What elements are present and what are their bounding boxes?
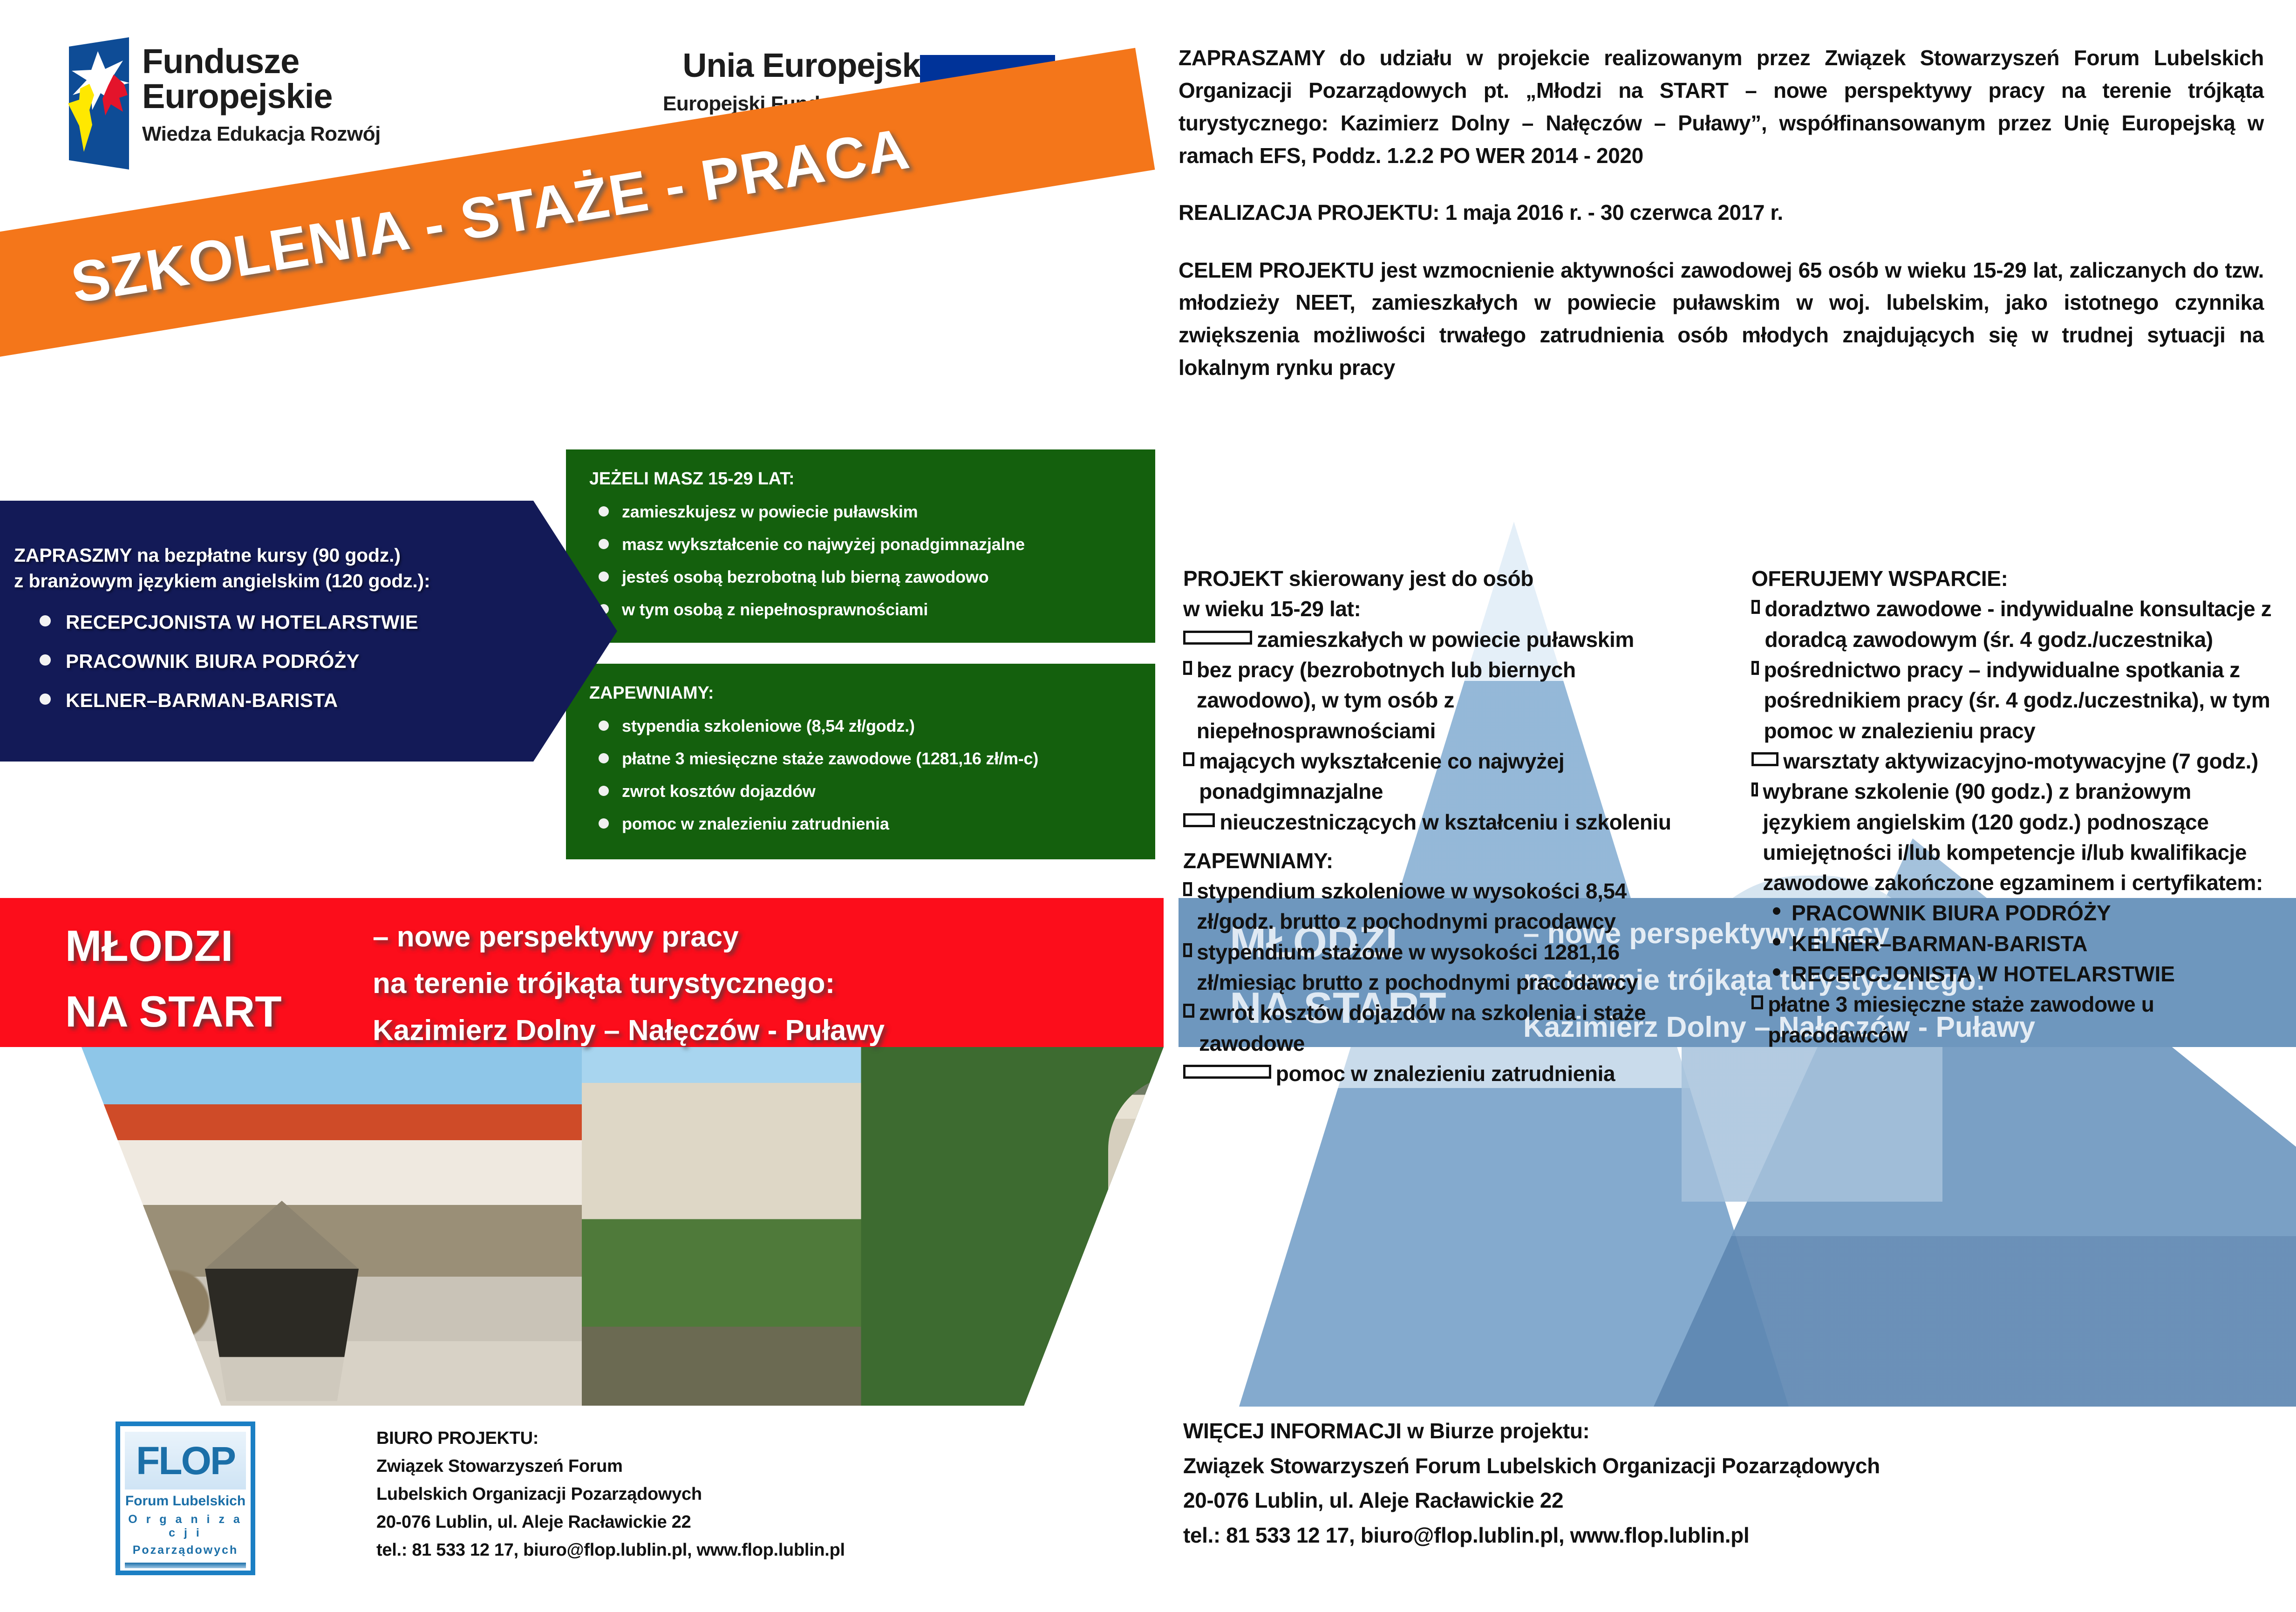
footer-left-l5[interactable]: tel.: 81 533 12 17, biuro@flop.lublin.pl… <box>376 1536 845 1564</box>
colA-heading-line1: PROJEKT skierowany jest do osób <box>1183 564 1691 594</box>
checkbox-icon <box>1751 661 1759 675</box>
photo-kazimierz-dolny <box>0 1047 582 1406</box>
checkbox-icon <box>1751 752 1778 766</box>
list-item: bez pracy (bezrobotnych lub biernych zaw… <box>1183 655 1691 746</box>
photo-trapezoid-clip <box>0 1047 1164 1406</box>
list-item: RECEPCJONISTA W HOTELARSTWIE <box>40 611 536 633</box>
intro-paragraph: ZAPRASZAMY do udziału w projekcie realiz… <box>1179 42 2264 172</box>
list-item: PRACOWNIK BIURA PODRÓŻY <box>1773 898 2273 928</box>
red-sub-line3: Kazimierz Dolny – Nałęczów - Puławy <box>373 1007 885 1054</box>
colA-item-2: mających wykształcenie co najwyżej ponad… <box>1199 746 1691 807</box>
list-item: PRACOWNIK BIURA PODRÓŻY <box>40 650 536 673</box>
list-item: doradztwo zawodowe - indywidualne konsul… <box>1751 594 2273 655</box>
bullet-dot-icon <box>40 654 51 666</box>
green2-item-0: stypendia szkoleniowe (8,54 zł/godz.) <box>622 716 915 736</box>
colB-last-item: płatne 3 miesięczne staże zawodowe u pra… <box>1768 989 2273 1050</box>
flop-sub2: O r g a n i z a c j i <box>125 1513 246 1540</box>
list-item: zwrot kosztów dojazdów na szkolenia i st… <box>1183 998 1691 1059</box>
checkbox-icon <box>1183 631 1252 645</box>
flop-logo: FLOP Forum Lubelskich O r g a n i z a c … <box>116 1422 255 1575</box>
footer-left-l2: Związek Stowarzyszeń Forum <box>376 1452 845 1480</box>
colB-item-3: wybrane szkolenie (90 godz.) z branżowym… <box>1763 776 2273 898</box>
list-item: stypendia szkoleniowe (8,54 zł/godz.) <box>599 716 1155 736</box>
checkbox-icon <box>1183 943 1192 957</box>
flop-sub3: Pozarządowych <box>125 1544 246 1557</box>
list-item: w tym osobą z niepełnosprawnościami <box>599 600 1155 619</box>
realization-paragraph: REALIZACJA PROJEKTU: 1 maja 2016 r. - 30… <box>1179 197 2264 229</box>
list-item: zamieszkałych w powiecie puławskim <box>1183 625 1691 655</box>
bullet-dot-icon <box>1773 938 1780 945</box>
wooden-well-shape <box>205 1201 359 1401</box>
flop-wordmark: FLOP <box>125 1432 246 1490</box>
fe-wordmark: Fundusze Europejskie Wiedza Edukacja Roz… <box>142 44 459 146</box>
rotunda-shape <box>1108 1075 1164 1294</box>
green2-item-2: zwrot kosztów dojazdów <box>622 782 816 801</box>
green-box-guarantees: ZAPEWNIAMY: stypendia szkoleniowe (8,54 … <box>566 664 1155 859</box>
right-text-column: ZAPRASZAMY do udziału w projekcie realiz… <box>1179 42 2264 384</box>
photo-montage <box>0 1047 1164 1406</box>
list-item: mających wykształcenie co najwyżej ponad… <box>1183 746 1691 807</box>
red-banner-title: MŁODZI NA START <box>65 913 282 1044</box>
green1-item-2: jesteś osobą bezrobotną lub bierną zawod… <box>622 567 989 587</box>
colA-item-3: nieuczestniczących w kształceniu i szkol… <box>1220 807 1691 837</box>
colA-heading-line2: w wieku 15-29 lat: <box>1183 594 1691 624</box>
colA-item-1: bez pracy (bezrobotnych lub biernych zaw… <box>1197 655 1691 746</box>
fe-line3: Wiedza Edukacja Rozwój <box>142 122 459 146</box>
navy-heading-line1: ZAPRASZMY na bezpłatne kursy (90 godz.) <box>14 543 536 568</box>
colB-item-0: doradztwo zawodowe - indywidualne konsul… <box>1765 594 2273 655</box>
green1-item-1: masz wykształcenie co najwyżej ponadgimn… <box>622 535 1025 554</box>
checkbox-icon <box>1183 813 1215 827</box>
footer-right-l1: WIĘCEJ INFORMACJI w Biurze projektu: <box>1183 1414 1880 1449</box>
colA-item2-3: pomoc w znalezieniu zatrudnienia <box>1276 1059 1691 1089</box>
fe-flag-icon <box>65 34 133 173</box>
bullet-dot-icon <box>599 818 609 829</box>
bullet-dot-icon <box>1773 968 1780 976</box>
navy-item-1: PRACOWNIK BIURA PODRÓŻY <box>66 650 360 673</box>
navy-heading-line2: z branżowym językiem angielskim (120 god… <box>14 568 536 594</box>
checkbox-icon <box>1751 600 1760 614</box>
list-item: RECEPCJONISTA W HOTELARSTWIE <box>1773 959 2273 989</box>
red-banner-subtitle: – nowe perspektywy pracy na terenie trój… <box>373 914 885 1054</box>
footer-left-l4: 20-076 Lublin, ul. Aleje Racławickie 22 <box>376 1508 845 1536</box>
green2-item-3: pomoc w znalezieniu zatrudnienia <box>622 814 889 834</box>
colA-item-0: zamieszkałych w powiecie puławskim <box>1257 625 1691 655</box>
green1-item-3: w tym osobą z niepełnosprawnościami <box>622 600 928 619</box>
column-target-group: PROJEKT skierowany jest do osób w wieku … <box>1183 564 1691 1089</box>
checkbox-icon <box>1183 661 1192 675</box>
red-sub-line2: na terenie trójkąta turystycznego: <box>373 960 885 1007</box>
list-item: wybrane szkolenie (90 godz.) z branżowym… <box>1751 776 2273 898</box>
list-item: pośrednictwo pracy – indywidualne spotka… <box>1751 655 2273 746</box>
colA-item2-1: stypendium stażowe w wysokości 1281,16 z… <box>1197 937 1691 998</box>
red-title-line1: MŁODZI <box>65 913 282 979</box>
colB-course-2: RECEPCJONISTA W HOTELARSTWIE <box>1792 959 2175 989</box>
checkbox-icon <box>1183 1004 1194 1018</box>
colA-heading2: ZAPEWNIAMY: <box>1183 846 1691 876</box>
list-item: KELNER–BARMAN-BARISTA <box>1773 929 2273 959</box>
fundusze-europejskie-logo: Fundusze Europejskie Wiedza Edukacja Roz… <box>65 34 191 173</box>
column-support-offered: OFERUJEMY WSPARCIE: doradztwo zawodowe -… <box>1751 564 2273 1050</box>
list-item: płatne 3 miesięczne staże zawodowe u pra… <box>1751 989 2273 1050</box>
green1-item-0: zamieszkujesz w powiecie puławskim <box>622 502 918 522</box>
colA-item2-2: zwrot kosztów dojazdów na szkolenia i st… <box>1199 998 1691 1059</box>
navy-arrow-tip <box>533 501 617 762</box>
flop-sub1: Forum Lubelskich <box>125 1493 246 1509</box>
list-item: pomoc w znalezieniu zatrudnienia <box>1183 1059 1691 1089</box>
colB-heading: OFERUJEMY WSPARCIE: <box>1751 564 2273 594</box>
checkbox-icon <box>1183 1065 1271 1079</box>
bullet-dot-icon <box>1773 907 1780 915</box>
bullet-dot-icon <box>40 615 51 626</box>
list-item: warsztaty aktywizacyjno-motywacyjne (7 g… <box>1751 746 2273 776</box>
colB-course-1: KELNER–BARMAN-BARISTA <box>1792 929 2087 959</box>
goal-paragraph: CELEM PROJEKTU jest wzmocnienie aktywnoś… <box>1179 254 2264 385</box>
green1-heading: JEŻELI MASZ 15-29 LAT: <box>589 469 1155 489</box>
colA-item2-0: stypendium szkoleniowe w wysokości 8,54 … <box>1197 876 1691 937</box>
footer-left-l3: Lubelskich Organizacji Pozarządowych <box>376 1480 845 1508</box>
green2-heading: ZAPEWNIAMY: <box>589 683 1155 703</box>
flyer-page: Fundusze Europejskie Wiedza Edukacja Roz… <box>0 0 2296 1612</box>
photo-pulawy-rotunda <box>582 1047 1164 1406</box>
checkbox-icon <box>1751 995 1763 1009</box>
list-item: masz wykształcenie co najwyżej ponadgimn… <box>599 535 1155 554</box>
list-item: pomoc w znalezieniu zatrudnienia <box>599 814 1155 834</box>
footer-right-contact: WIĘCEJ INFORMACJI w Biurze projektu: Zwi… <box>1183 1414 1880 1552</box>
list-item: zwrot kosztów dojazdów <box>599 782 1155 801</box>
green-box-eligibility: JEŻELI MASZ 15-29 LAT: zamieszkujesz w p… <box>566 449 1155 643</box>
flop-mark-text: FLOP <box>136 1438 235 1483</box>
footer-right-l3: 20-076 Lublin, ul. Aleje Racławickie 22 <box>1183 1483 1880 1518</box>
bullet-dot-icon <box>599 786 609 796</box>
footer-right-l2: Związek Stowarzyszeń Forum Lubelskich Or… <box>1183 1449 1880 1483</box>
footer-right-l4[interactable]: tel.: 81 533 12 17, biuro@flop.lublin.pl… <box>1183 1518 1880 1553</box>
navy-item-0: RECEPCJONISTA W HOTELARSTWIE <box>66 611 418 633</box>
fe-line1: Fundusze <box>142 44 459 79</box>
green2-item-1: płatne 3 miesięczne staże zawodowe (1281… <box>622 749 1038 769</box>
list-item: jesteś osobą bezrobotną lub bierną zawod… <box>599 567 1155 587</box>
list-item: stypendium szkoleniowe w wysokości 8,54 … <box>1183 876 1691 937</box>
list-item: KELNER–BARMAN-BARISTA <box>40 689 536 712</box>
footer-left-l1: BIURO PROJEKTU: <box>376 1424 845 1452</box>
list-item: zamieszkujesz w powiecie puławskim <box>599 502 1155 522</box>
fe-line2: Europejskie <box>142 79 459 114</box>
flop-divider <box>125 1563 246 1568</box>
red-title-line2: NA START <box>65 979 282 1044</box>
colB-item-2: warsztaty aktywizacyjno-motywacyjne (7 g… <box>1783 746 2273 776</box>
list-item: płatne 3 miesięczne staże zawodowe (1281… <box>599 749 1155 769</box>
footer-left-contact: BIURO PROJEKTU: Związek Stowarzyszeń For… <box>376 1424 845 1564</box>
checkbox-icon <box>1183 882 1192 896</box>
navy-box-content: ZAPRASZMY na bezpłatne kursy (90 godz.) … <box>14 543 536 712</box>
list-item: nieuczestniczących w kształceniu i szkol… <box>1183 807 1691 837</box>
red-sub-line1: – nowe perspektywy pracy <box>373 914 885 960</box>
checkbox-icon <box>1183 752 1194 766</box>
checkbox-icon <box>1751 782 1758 796</box>
bullet-dot-icon <box>40 694 51 705</box>
colB-item-1: pośrednictwo pracy – indywidualne spotka… <box>1764 655 2273 746</box>
colB-course-0: PRACOWNIK BIURA PODRÓŻY <box>1792 898 2111 928</box>
list-item: stypendium stażowe w wysokości 1281,16 z… <box>1183 937 1691 998</box>
navy-item-2: KELNER–BARMAN-BARISTA <box>66 689 338 712</box>
